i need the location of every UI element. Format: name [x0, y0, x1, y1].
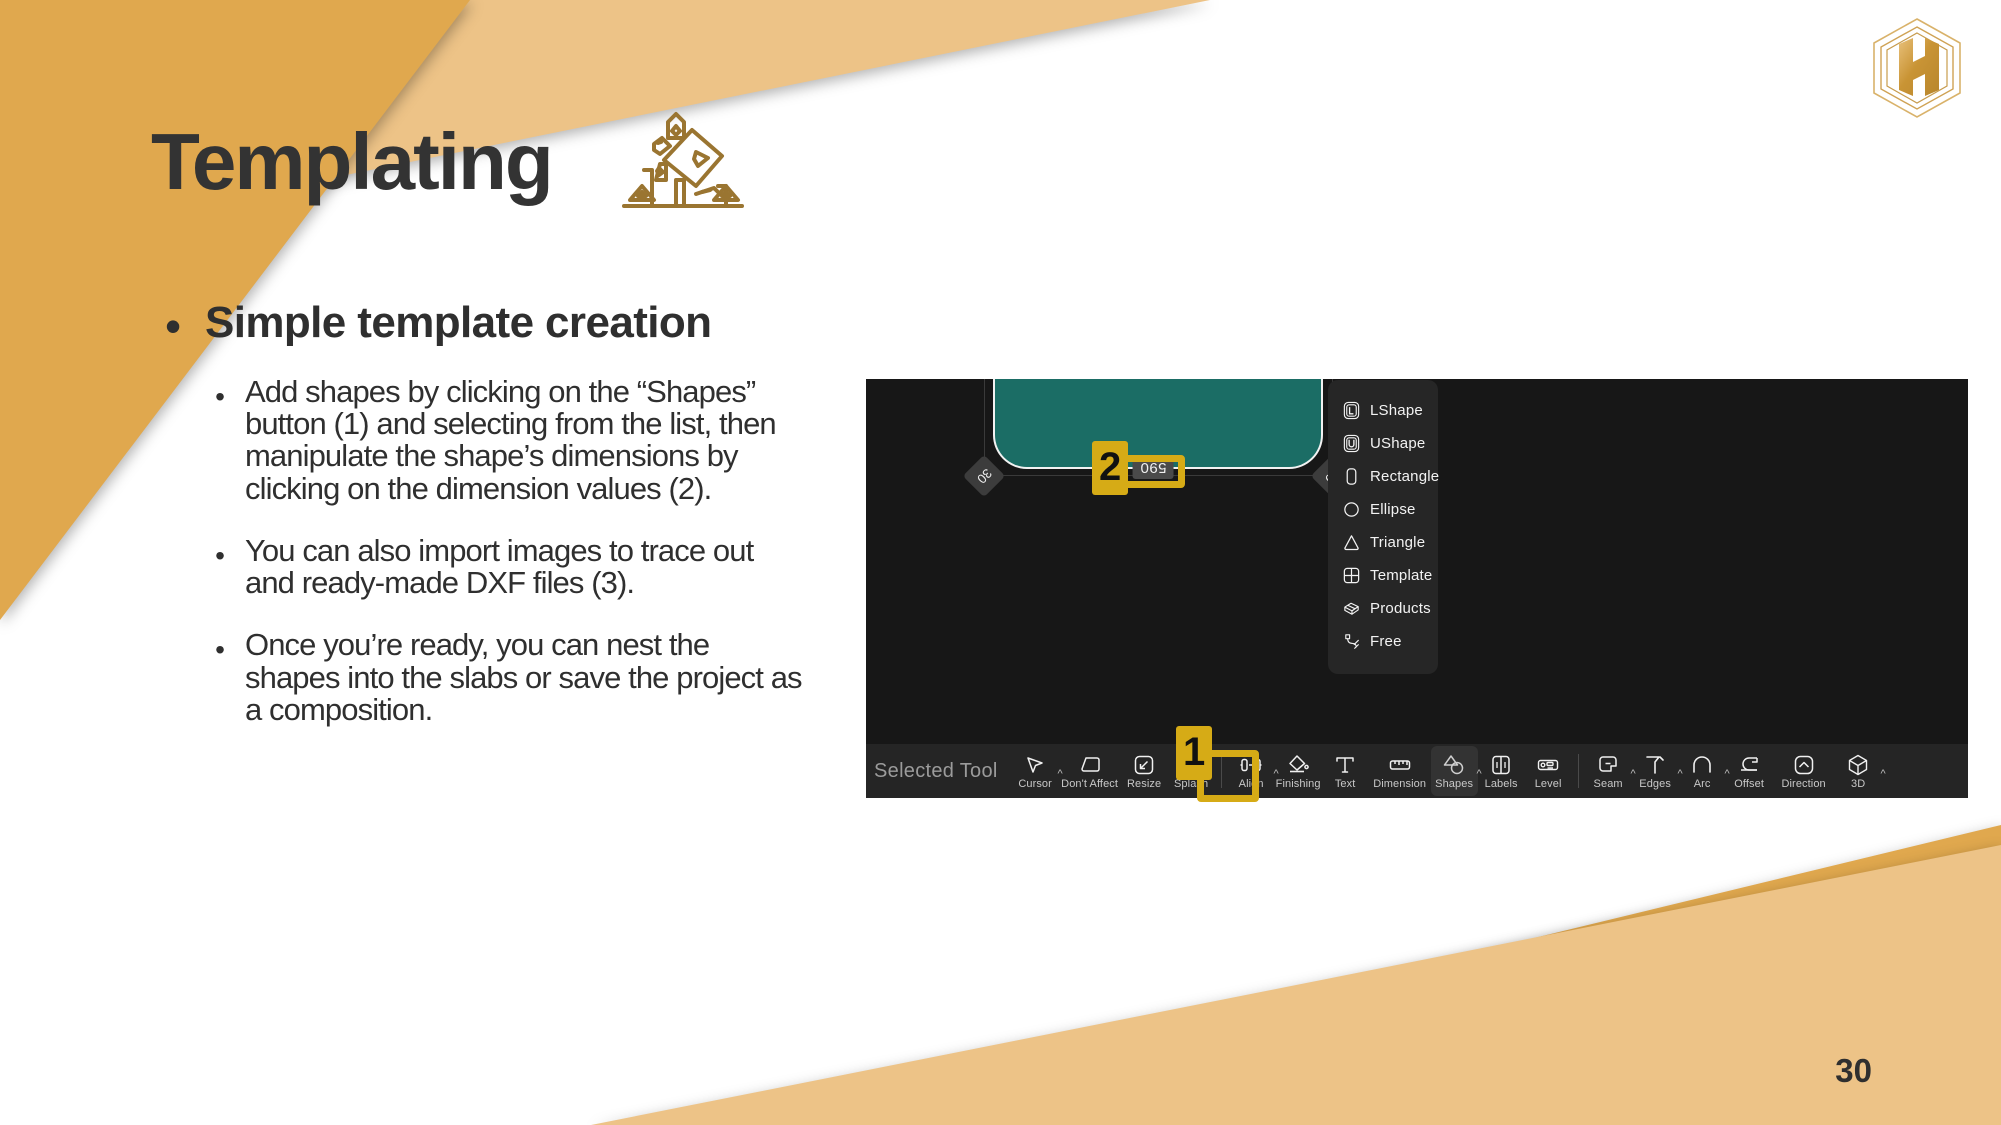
toolbar-button-cursor[interactable]: Cursor ^	[1012, 746, 1059, 796]
list-item: • Add shapes by clicking on the “Shapes”…	[213, 376, 823, 505]
dropdown-item-label: Free	[1370, 633, 1402, 650]
drawing-canvas[interactable]: 30 30 590 LShape UShape	[866, 379, 1968, 798]
dropdown-item-triangle[interactable]: Triangle	[1328, 526, 1438, 559]
dropdown-item-ellipse[interactable]: Ellipse	[1328, 493, 1438, 526]
dropdown-item-label: Products	[1370, 600, 1431, 617]
toolbar-button-finishing[interactable]: Finishing	[1275, 746, 1322, 796]
sub-bullet-text: Once you’re ready, you can nest the shap…	[245, 629, 805, 726]
toolbar-button-label: Don't Affect	[1061, 778, 1118, 790]
dropdown-item-ushape[interactable]: UShape	[1328, 427, 1438, 460]
labels-icon	[1489, 753, 1513, 777]
callout-number-1: 1	[1176, 726, 1212, 780]
template-grid-icon	[1342, 566, 1361, 585]
toolbar-button-shapes[interactable]: Shapes ^	[1431, 746, 1478, 796]
toolbar-button-label: Finishing	[1276, 778, 1321, 790]
triangle-icon	[1342, 533, 1361, 552]
offset-icon	[1737, 753, 1761, 777]
toolbar-button-resize[interactable]: Resize	[1121, 746, 1168, 796]
resize-icon	[1132, 753, 1156, 777]
toolbar-button-label: Shapes	[1435, 778, 1473, 790]
toolbar-divider	[1578, 754, 1579, 788]
rectangle-icon	[1342, 467, 1361, 486]
toolbar-button-label: Labels	[1485, 778, 1518, 790]
seam-icon	[1596, 753, 1620, 777]
sub-bullet-marker: •	[213, 629, 227, 671]
lshape-icon	[1342, 401, 1361, 420]
toolbar-button-label: Cursor	[1018, 778, 1052, 790]
finishing-icon	[1286, 753, 1310, 777]
dropdown-item-label: Ellipse	[1370, 501, 1416, 518]
toolbar-button-label: 3D	[1851, 778, 1865, 790]
dropdown-item-template[interactable]: Template	[1328, 559, 1438, 592]
toolbar-button-label: Offset	[1734, 778, 1764, 790]
bottom-toolbar: Selected Tool Cursor ^ Don't Affect Resi…	[866, 744, 1968, 798]
direction-icon	[1792, 753, 1816, 777]
toolbar-button-label: Arc	[1694, 778, 1711, 790]
ellipse-icon	[1342, 500, 1361, 519]
page-title: Templating	[151, 122, 552, 202]
selected-tool-label: Selected Tool	[874, 760, 998, 783]
dont-affect-icon	[1078, 753, 1102, 777]
cube-3d-icon	[1846, 753, 1870, 777]
toolbar-button-offset[interactable]: Offset	[1726, 746, 1773, 796]
embedded-app-screenshot: 30 30 590 LShape UShape	[866, 379, 1968, 798]
toolbar-button-direction[interactable]: Direction	[1773, 746, 1835, 796]
cursor-icon	[1023, 753, 1047, 777]
toolbar-button-labels[interactable]: Labels	[1478, 746, 1525, 796]
page-number: 30	[1835, 1052, 1872, 1090]
templating-abstract-icon	[614, 108, 746, 216]
dropdown-item-rectangle[interactable]: Rectangle	[1328, 460, 1438, 493]
ushape-icon	[1342, 434, 1361, 453]
edges-icon	[1643, 753, 1667, 777]
dropdown-item-label: Triangle	[1370, 534, 1425, 551]
heading-bullet-marker: •	[163, 300, 183, 352]
toolbar-button-label: Dimension	[1373, 778, 1426, 790]
toolbar-button-label: Text	[1335, 778, 1356, 790]
dropdown-item-label: Template	[1370, 567, 1432, 584]
toolbar-button-dont-affect[interactable]: Don't Affect	[1059, 746, 1121, 796]
sub-bullet-list: • Add shapes by clicking on the “Shapes”…	[213, 376, 823, 726]
content-column: • Simple template creation • Add shapes …	[163, 298, 823, 726]
level-icon	[1536, 753, 1560, 777]
shapes-icon	[1442, 753, 1466, 777]
free-pen-icon	[1342, 632, 1361, 651]
sub-bullet-marker: •	[213, 376, 227, 418]
dropdown-item-label: LShape	[1370, 402, 1423, 419]
dropdown-item-label: UShape	[1370, 435, 1425, 452]
hexagon-h-logo	[1869, 16, 1965, 120]
toolbar-button-edges[interactable]: Edges ^	[1632, 746, 1679, 796]
title-row: Templating	[151, 108, 746, 216]
text-icon	[1333, 753, 1357, 777]
corner-radius-badge-left[interactable]: 30	[963, 455, 1005, 497]
toolbar-button-label: Resize	[1127, 778, 1161, 790]
toolbar-button-level[interactable]: Level	[1525, 746, 1572, 796]
toolbar-button-label: Seam	[1594, 778, 1623, 790]
sub-bullet-text: You can also import images to trace out …	[245, 535, 805, 599]
chevron-up-icon[interactable]: ^	[1880, 769, 1885, 780]
toolbar-button-dimension[interactable]: Dimension	[1369, 746, 1431, 796]
dropdown-item-free[interactable]: Free	[1328, 625, 1438, 658]
toolbar-button-seam[interactable]: Seam ^	[1585, 746, 1632, 796]
arc-icon	[1690, 753, 1714, 777]
dropdown-item-label: Rectangle	[1370, 468, 1439, 485]
heading-bullet-row: • Simple template creation	[163, 298, 823, 352]
heading-bullet-text: Simple template creation	[205, 298, 711, 347]
corner-radius-left-value: 30	[974, 466, 995, 487]
list-item: • Once you’re ready, you can nest the sh…	[213, 629, 823, 726]
dropdown-item-lshape[interactable]: LShape	[1328, 394, 1438, 427]
dimension-icon	[1388, 753, 1412, 777]
dropdown-item-products[interactable]: Products	[1328, 592, 1438, 625]
toolbar-button-label: Level	[1535, 778, 1562, 790]
sub-bullet-marker: •	[213, 535, 227, 577]
toolbar-button-label: Direction	[1781, 778, 1825, 790]
callout-number-2: 2	[1092, 441, 1128, 495]
toolbar-button-label: Edges	[1639, 778, 1671, 790]
toolbar-button-text[interactable]: Text	[1322, 746, 1369, 796]
sub-bullet-text: Add shapes by clicking on the “Shapes” b…	[245, 376, 805, 505]
list-item: • You can also import images to trace ou…	[213, 535, 823, 599]
toolbar-button-arc[interactable]: Arc ^	[1679, 746, 1726, 796]
products-box-icon	[1342, 599, 1361, 618]
shapes-dropdown-panel[interactable]: LShape UShape Rectangle Ellipse	[1328, 380, 1438, 674]
toolbar-button-3d[interactable]: 3D ^	[1835, 746, 1882, 796]
